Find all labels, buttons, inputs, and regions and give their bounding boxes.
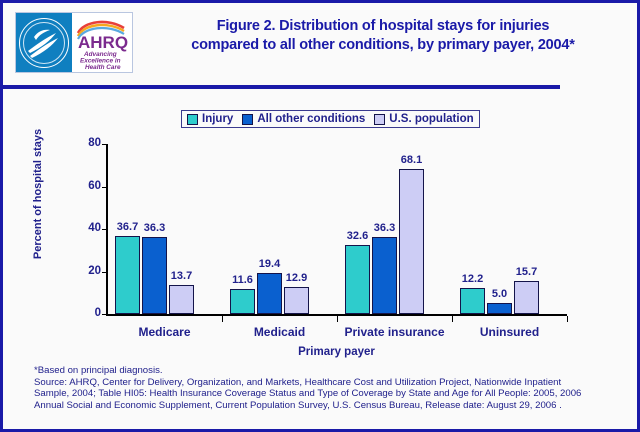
bar-value-label: 5.0	[481, 288, 518, 300]
y-tick-mark	[102, 144, 107, 145]
bar-value-label: 36.3	[136, 222, 173, 234]
bar-value-label: 11.6	[224, 274, 261, 286]
y-axis-line	[106, 144, 108, 315]
legend-label-all-other-conditions: All other conditions	[257, 113, 365, 125]
y-tick-mark	[102, 272, 107, 273]
y-tick-mark	[102, 187, 107, 188]
bar-private-insurance-u-s-population	[399, 169, 424, 314]
legend-label-us-population: U.S. population	[389, 113, 473, 125]
bar-uninsured-all-other-conditions	[487, 303, 512, 314]
figure-footnotes: *Based on principal diagnosis. Source: A…	[34, 365, 630, 411]
bar-value-label: 13.7	[163, 270, 200, 282]
ahrq-logo: AHRQ Advancing Excellence in Health Care	[15, 12, 133, 73]
bar-private-insurance-all-other-conditions	[372, 237, 397, 314]
bar-medicaid-all-other-conditions	[257, 273, 282, 314]
y-tick-mark	[102, 314, 107, 315]
footnote-line-1: *Based on principal diagnosis.	[34, 365, 630, 377]
legend-item-us-population: U.S. population	[374, 113, 473, 125]
footnote-line-3: Sample, 2004; Table HI05: Health Insuran…	[34, 388, 630, 400]
title-line-1: Figure 2. Distribution of hospital stays…	[143, 17, 623, 36]
bar-value-label: 68.1	[393, 154, 430, 166]
x-axis-line	[106, 314, 567, 316]
bar-value-label: 36.7	[109, 221, 146, 233]
legend-item-all-other-conditions: All other conditions	[242, 113, 365, 125]
y-tick-mark	[102, 229, 107, 230]
legend-swatch-all-other-conditions	[242, 114, 253, 125]
bar-private-insurance-injury	[345, 245, 370, 314]
svg-text:AHRQ: AHRQ	[78, 33, 128, 52]
footnote-line-4: Annual Social and Economic Supplement, C…	[34, 400, 630, 412]
bar-value-label: 32.6	[339, 230, 376, 242]
bar-value-label: 12.2	[454, 273, 491, 285]
bar-value-label: 19.4	[251, 258, 288, 270]
x-tick-mark	[222, 316, 223, 322]
bar-value-label: 12.9	[278, 272, 315, 284]
x-category-label-medicaid: Medicaid	[222, 325, 337, 339]
legend-swatch-us-population	[374, 114, 385, 125]
bar-uninsured-u-s-population	[514, 281, 539, 314]
x-axis-label: Primary payer	[106, 346, 567, 358]
legend-label-injury: Injury	[202, 113, 233, 125]
legend-item-injury: Injury	[187, 113, 233, 125]
x-tick-mark	[337, 316, 338, 322]
x-category-label-uninsured: Uninsured	[452, 325, 567, 339]
bar-medicare-u-s-population	[169, 285, 194, 314]
figure-page: AHRQ Advancing Excellence in Health Care…	[0, 0, 640, 432]
ahrq-wordmark-icon: AHRQ Advancing Excellence in Health Care	[72, 13, 132, 72]
y-tick-label: 40	[71, 222, 101, 234]
figure-header: AHRQ Advancing Excellence in Health Care…	[3, 3, 637, 81]
bar-medicaid-u-s-population	[284, 287, 309, 314]
bar-value-label: 15.7	[508, 266, 545, 278]
y-tick-label: 0	[71, 307, 101, 319]
hhs-seal-icon	[16, 13, 72, 72]
legend-swatch-injury	[187, 114, 198, 125]
svg-text:Health Care: Health Care	[85, 64, 121, 71]
title-line-2: compared to all other conditions, by pri…	[143, 36, 623, 55]
y-tick-label: 60	[71, 180, 101, 192]
bar-uninsured-injury	[460, 288, 485, 314]
chart-legend: Injury All other conditions U.S. populat…	[181, 110, 480, 128]
page-title: Figure 2. Distribution of hospital stays…	[143, 17, 623, 55]
x-tick-mark	[567, 316, 568, 322]
y-axis-label: Percent of hospital stays	[32, 114, 44, 274]
x-category-label-medicare: Medicare	[107, 325, 222, 339]
header-divider	[3, 85, 560, 89]
x-category-label-private-insurance: Private insurance	[337, 325, 452, 339]
bar-medicare-injury	[115, 236, 140, 314]
footnote-line-2: Source: AHRQ, Center for Delivery, Organ…	[34, 377, 630, 389]
y-tick-label: 20	[71, 265, 101, 277]
x-tick-mark	[452, 316, 453, 322]
bar-value-label: 36.3	[366, 222, 403, 234]
bar-medicare-all-other-conditions	[142, 237, 167, 314]
bar-medicaid-injury	[230, 289, 255, 314]
y-tick-label: 80	[71, 137, 101, 149]
